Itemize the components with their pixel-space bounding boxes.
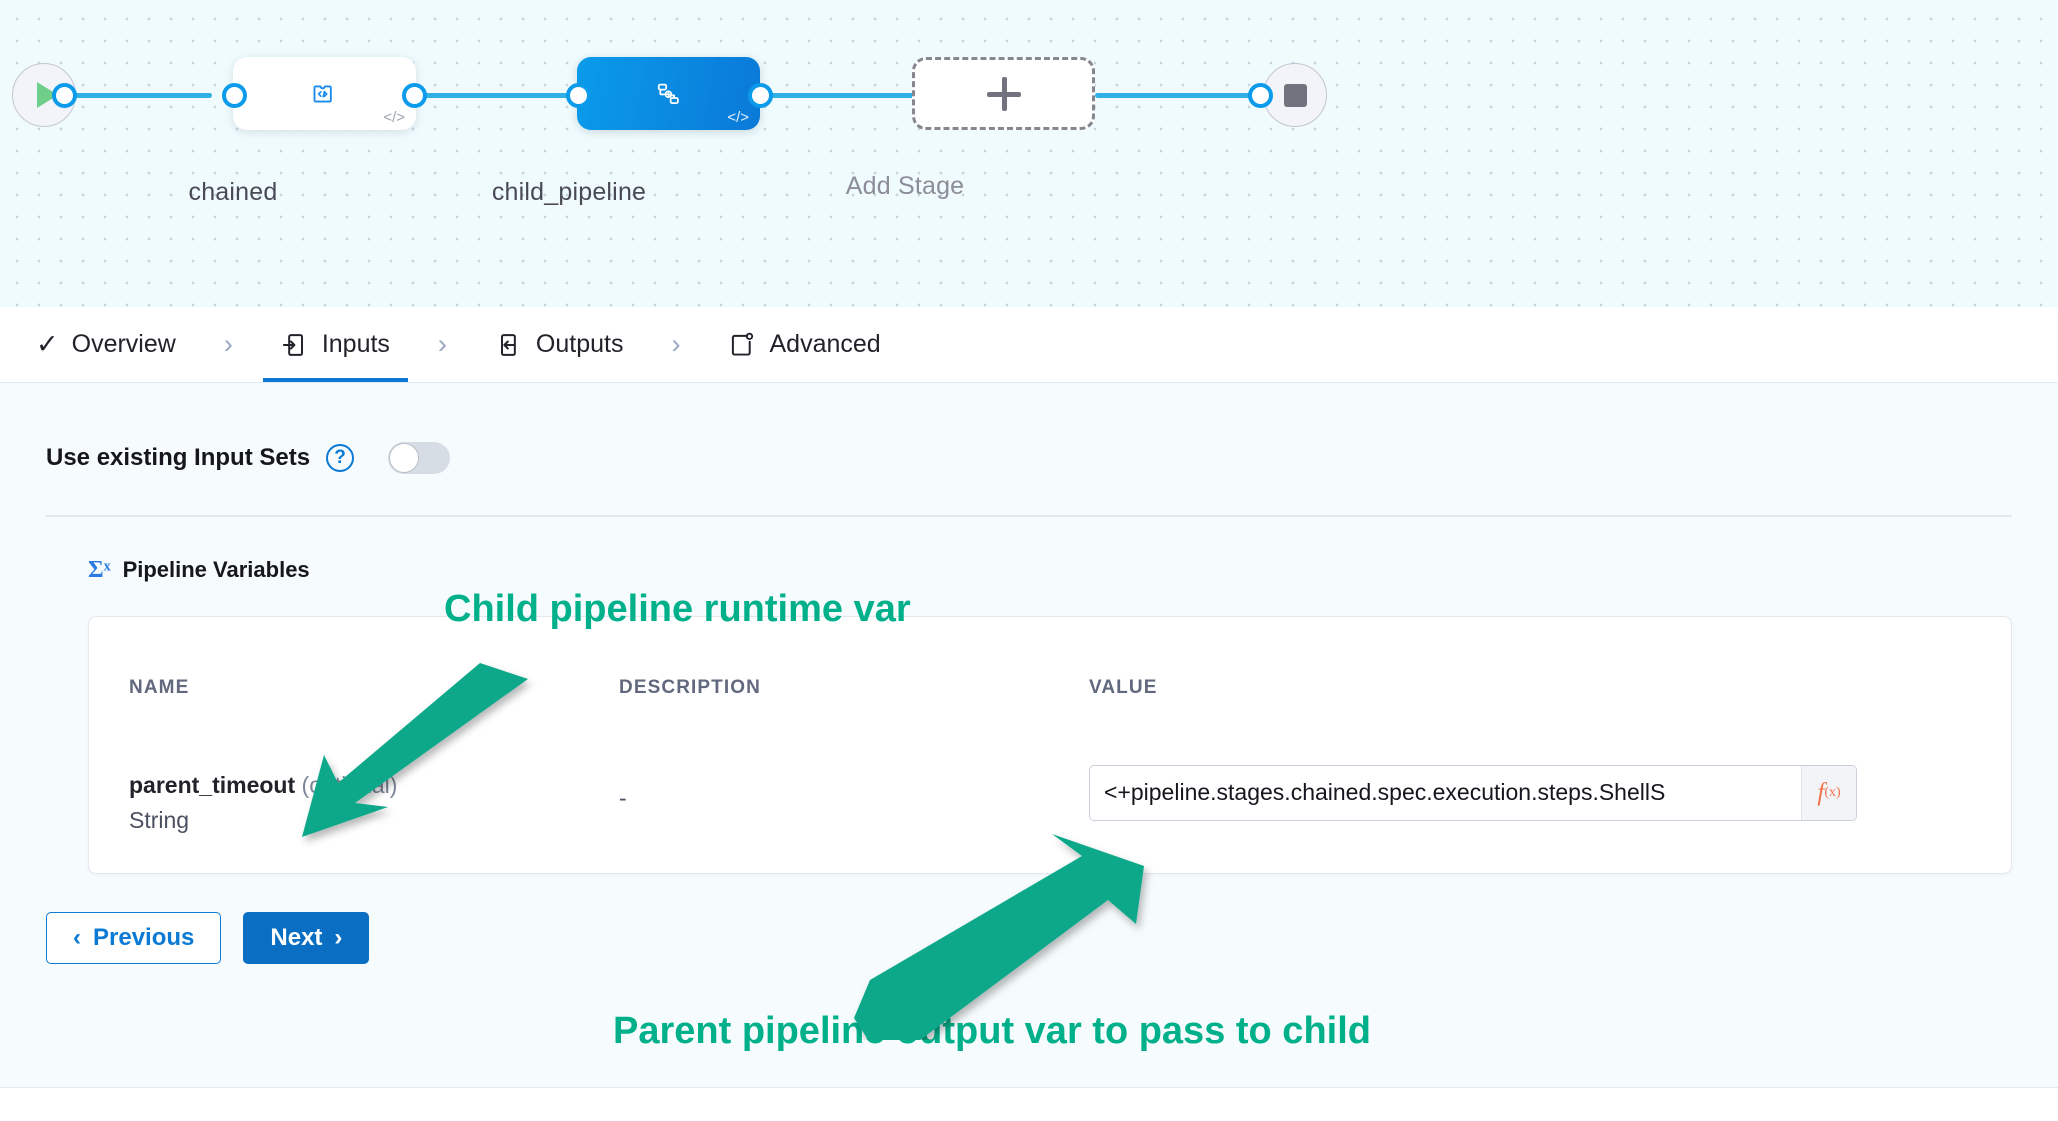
- pipeline-variables-title: Pipeline Variables: [123, 557, 310, 583]
- chevron-left-icon: ‹: [73, 924, 81, 952]
- next-button-label: Next: [270, 924, 322, 952]
- column-header-description: DESCRIPTION: [619, 677, 761, 699]
- tab-overview-label: Overview: [72, 330, 176, 359]
- stage-chained-output-port[interactable]: [402, 83, 427, 108]
- next-button[interactable]: Next ›: [243, 912, 369, 964]
- previous-button-label: Previous: [93, 924, 194, 952]
- tab-separator: ›: [202, 329, 255, 360]
- column-header-name: NAME: [129, 677, 189, 699]
- use-existing-input-sets-row: Use existing Input Sets ?: [0, 383, 2058, 485]
- variable-optional-tag: (optional): [302, 772, 398, 798]
- sigma-variable-icon: Σˣ: [88, 557, 111, 584]
- tab-outputs-label: Outputs: [536, 330, 624, 359]
- bottom-strip: [0, 1087, 2058, 1120]
- previous-button[interactable]: ‹ Previous: [46, 912, 221, 964]
- column-header-value: VALUE: [1089, 677, 1157, 699]
- pipeline-variables-table: NAME DESCRIPTION VALUE parent_timeout (o…: [88, 616, 2012, 874]
- edge-addstage-to-end: [1095, 93, 1255, 98]
- add-stage-label: Add Stage: [740, 172, 1070, 201]
- tab-advanced[interactable]: Advanced: [702, 307, 906, 382]
- variable-value-field[interactable]: f(x): [1089, 765, 1857, 821]
- pipeline-canvas[interactable]: </> chained </> child_pipeline Add: [0, 0, 2058, 307]
- chevron-right-icon: ›: [334, 924, 342, 952]
- tab-outputs[interactable]: Outputs: [469, 307, 650, 382]
- fx-sub: (x): [1824, 785, 1840, 801]
- stage-child-pipeline-label: child_pipeline: [404, 178, 734, 207]
- custom-stage-icon: [311, 80, 339, 108]
- inputs-arrow-into-box-icon: [281, 331, 309, 359]
- outputs-arrow-out-of-box-icon: [495, 331, 523, 359]
- stage-chained-input-port[interactable]: [222, 83, 247, 108]
- pipeline-chain-icon: [655, 80, 683, 108]
- advanced-gear-box-icon: [728, 331, 756, 359]
- wizard-button-row: ‹ Previous Next ›: [0, 874, 2058, 964]
- annotation-child-runtime-var: Child pipeline runtime var: [444, 588, 911, 631]
- tab-inputs[interactable]: Inputs: [255, 307, 416, 382]
- variable-name-cell: parent_timeout (optional): [129, 772, 397, 799]
- start-node-port[interactable]: [52, 83, 77, 108]
- variable-description-cell: -: [619, 785, 627, 812]
- variable-type-text: String: [129, 807, 189, 834]
- stage-config-tabs-bar: ✓ Overview › Inputs › Outputs › Adv: [0, 307, 2058, 383]
- stage-child-pipeline-output-port[interactable]: [748, 83, 773, 108]
- edge-chained-to-child: [400, 93, 580, 98]
- plus-icon: [987, 77, 1021, 111]
- expression-fx-button[interactable]: f(x): [1801, 766, 1856, 820]
- stage-child-pipeline[interactable]: </>: [577, 57, 760, 130]
- use-existing-input-sets-toggle[interactable]: [388, 442, 450, 474]
- code-badge-icon: </>: [383, 110, 405, 125]
- variable-name-text: parent_timeout: [129, 772, 295, 798]
- pipeline-flow: </> chained </> child_pipeline Add: [0, 0, 2058, 307]
- pipeline-variables-header: Σˣ Pipeline Variables: [0, 517, 2058, 584]
- tab-overview[interactable]: ✓ Overview: [10, 307, 202, 382]
- tab-separator: ›: [649, 329, 702, 360]
- stage-chained[interactable]: </>: [233, 57, 416, 130]
- stage-child-pipeline-input-port[interactable]: [566, 83, 591, 108]
- tab-advanced-label: Advanced: [769, 330, 880, 359]
- add-stage-node[interactable]: [912, 57, 1095, 130]
- tab-separator: ›: [416, 329, 469, 360]
- tab-inputs-label: Inputs: [322, 330, 390, 359]
- stage-chained-label: chained: [68, 178, 398, 207]
- end-node-port[interactable]: [1248, 83, 1273, 108]
- edge-child-to-addstage: [760, 93, 920, 98]
- variable-value-input[interactable]: [1090, 766, 1801, 820]
- code-badge-icon: </>: [727, 110, 749, 125]
- fx-label: f: [1817, 779, 1824, 807]
- question-mark-icon[interactable]: ?: [326, 444, 354, 472]
- stop-icon: [1284, 84, 1307, 107]
- stage-config-tabs: ✓ Overview › Inputs › Outputs › Adv: [0, 307, 2058, 382]
- use-existing-input-sets-label: Use existing Input Sets: [46, 444, 310, 472]
- check-icon: ✓: [36, 331, 59, 358]
- annotation-parent-output-var: Parent pipeline output var to pass to ch…: [613, 1010, 1371, 1053]
- toggle-knob: [389, 443, 419, 473]
